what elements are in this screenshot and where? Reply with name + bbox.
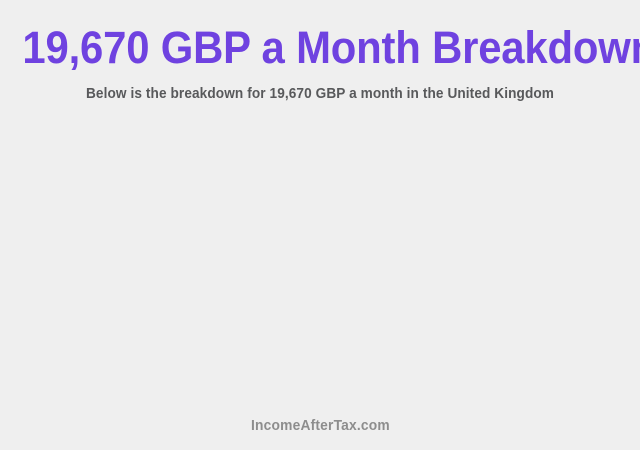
page-title: 19,670 GBP a Month Breakdown: [22, 0, 617, 72]
page-header: 19,670 GBP a Month Breakdown Below is th…: [0, 0, 640, 103]
breakdown-content-area: [0, 120, 640, 405]
site-credit-label: IncomeAfterTax.com: [251, 405, 390, 435]
page-footer: IncomeAfterTax.com: [0, 405, 640, 450]
page-subtitle: Below is the breakdown for 19,670 GBP a …: [19, 72, 621, 103]
salary-breakdown-page: 19,670 GBP a Month Breakdown Below is th…: [0, 0, 640, 450]
